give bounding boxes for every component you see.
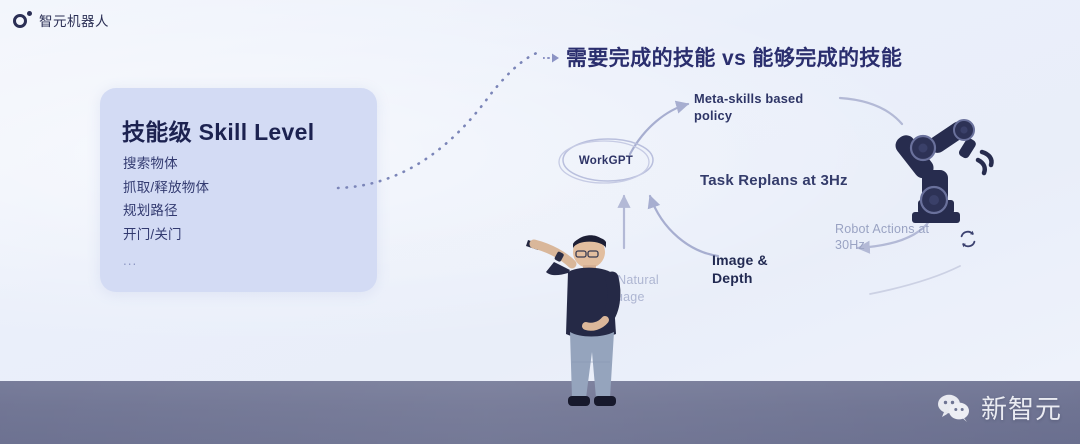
watermark-text: 新智元	[981, 389, 1062, 426]
label-task-replans: Task Replans at 3Hz	[700, 172, 848, 189]
presenter	[520, 222, 635, 430]
list-item: 开门/关门	[123, 223, 209, 247]
skill-card-list: 搜索物体 抓取/释放物体 规划路径 开门/关门 ...	[123, 152, 209, 276]
screenshot-root: 智元机器人 技能级 Skill Level 搜索物体 抓取/释放物体 规划路径 …	[0, 0, 1080, 444]
label-image-depth: Image & Depth	[712, 251, 802, 287]
wechat-icon	[936, 393, 972, 423]
arrow-right-icon	[543, 52, 561, 64]
list-item: 抓取/释放物体	[123, 176, 209, 200]
workgpt-label: WorkGPT	[556, 136, 656, 186]
list-item: 搜索物体	[123, 152, 209, 176]
label-meta-skills: Meta-skills based policy	[694, 90, 824, 124]
robot-dot-logo-icon	[13, 11, 32, 30]
slide-headline: 需要完成的技能 vs 能够完成的技能	[566, 42, 902, 72]
list-ellipsis: ...	[123, 246, 209, 276]
watermark: 新智元	[936, 389, 1062, 426]
brand-logo: 智元机器人	[13, 10, 109, 30]
list-item: 规划路径	[123, 199, 209, 223]
brand-name: 智元机器人	[39, 10, 109, 30]
skill-card-title: 技能级 Skill Level	[122, 113, 314, 147]
robot-arm-icon	[890, 108, 1000, 233]
workgpt-node: WorkGPT	[556, 136, 656, 186]
